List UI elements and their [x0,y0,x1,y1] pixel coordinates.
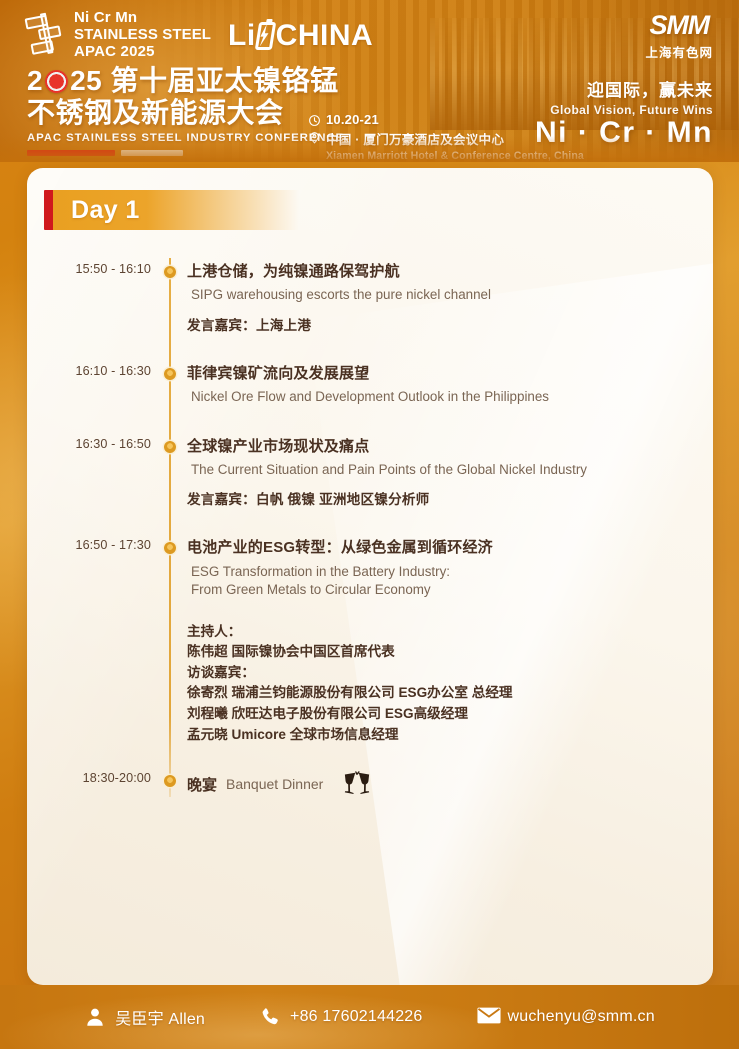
timeline-dot-icon [164,441,176,453]
banquet-label-cn: 晚宴 [187,774,217,795]
logo-line-3: APAC 2025 [74,44,211,61]
agenda-row: 16:30 - 16:50 全球镍产业市场现状及痛点 The Current S… [27,437,713,509]
agenda-card: Day 1 15:50 - 16:10 上港仓储，为纯镍通路保驾护航 SIPG … [27,168,713,985]
person-icon [84,1006,106,1028]
contact-phone[interactable]: +86 17602144226 [259,1006,422,1028]
agenda-row: 15:50 - 16:10 上港仓储，为纯镍通路保驾护航 SIPG wareho… [27,262,713,334]
agenda-row: 16:50 - 17:30 电池产业的ESG转型：从绿色金属到循环经济 ESG … [27,538,713,745]
lichina-logo: Li CHINA [228,19,373,53]
envelope-icon [477,1006,499,1028]
contact-phone-text: +86 17602144226 [290,1008,422,1026]
lichina-suffix: CHINA [276,19,374,53]
slogan-english: Global Vision, Future Wins [550,103,713,117]
footer-contact-bar: 吴臣宇 Allen +86 17602144226 wuchenyu@smm.c… [0,985,739,1049]
session-time: 16:10 - 16:30 [27,364,160,407]
smm-logo: SMM 上海有色网 [645,12,713,61]
contact-email-text: wuchenyu@smm.cn [508,1008,655,1026]
smm-subtitle: 上海有色网 [645,42,713,61]
timeline-dot-icon [164,266,176,278]
logo-line-2: STAINLESS STEEL [74,27,211,44]
battery-icon [254,22,275,50]
panel-guest: 徐寄烈 瑞浦兰钧能源股份有限公司 ESG办公室 总经理 [187,683,513,704]
session-speaker: 发言嘉宾：白帆 俄镍 亚洲地区镍分析师 [187,488,587,508]
session-speaker: 发言嘉宾：上海上港 [187,314,491,334]
conference-title-line-2: 不锈钢及新能源大会 [27,98,344,127]
lichina-prefix: Li [228,19,256,53]
session-title-cn: 菲律宾镍矿流向及发展展望 [187,364,549,384]
phone-icon [259,1006,281,1028]
header-banner: Ni Cr Mn STAINLESS STEEL APAC 2025 Li CH… [0,0,739,162]
agenda-row: 16:10 - 16:30 菲律宾镍矿流向及发展展望 Nickel Ore Fl… [27,364,713,407]
smm-wordmark: SMM [645,12,713,39]
session-title-en: SIPG warehousing escorts the pure nickel… [187,286,491,305]
session-title-cn: 上港仓储，为纯镍通路保驾护航 [187,262,491,282]
session-time: 15:50 - 16:10 [27,262,160,334]
event-date: 10.20-21 [326,112,379,127]
stacked-bars-logo-icon [23,10,69,60]
session-title-cn: 全球镍产业市场现状及痛点 [187,437,587,457]
banquet-time: 18:30-20:00 [27,771,160,797]
session-title-en-line-2: From Green Metals to Circular Economy [187,581,513,600]
session-title-en: Nickel Ore Flow and Development Outlook … [187,388,549,407]
session-time: 16:30 - 16:50 [27,437,160,509]
logo-line-1: Ni Cr Mn [74,10,211,27]
slogan-chinese: 迎国际，赢未来 [550,76,713,101]
conference-title-line-1: 2 25 第十届亚太镍铬锰 [27,66,344,95]
agenda-row-banquet: 18:30-20:00 晚宴 Banquet Dinner [27,771,713,797]
contact-email[interactable]: wuchenyu@smm.cn [477,1006,655,1028]
banquet-label-en: Banquet Dinner [226,776,323,792]
session-title-en: The Current Situation and Pain Points of… [187,461,587,480]
title-line-1-rest: 25 第十届亚太镍铬锰 [70,66,338,95]
host-label: 主持人： [187,622,513,643]
contact-person: 吴臣宇 Allen [84,1005,205,1029]
title-year-prefix: 2 [27,66,43,95]
host-name: 陈伟超 国际镍协会中国区首席代表 [187,642,513,663]
day-accent-bar [44,190,53,230]
panel-guest: 刘程曦 欣旺达电子股份有限公司 ESG高级经理 [187,704,513,725]
day-banner: Day 1 [44,190,299,230]
decorative-zero-icon [45,70,68,93]
session-title-en-line-1: ESG Transformation in the Battery Indust… [187,563,513,582]
header-bottom-fade [0,136,739,162]
session-title-cn: 电池产业的ESG转型：从绿色金属到循环经济 [187,538,513,558]
agenda-timeline: 15:50 - 16:10 上港仓储，为纯镍通路保驾护航 SIPG wareho… [27,244,713,797]
timeline-dot-icon [164,368,176,380]
session-time: 16:50 - 17:30 [27,538,160,745]
clock-icon [308,114,321,127]
contact-person-text: 吴臣宇 Allen [115,1005,205,1029]
event-slogan: 迎国际，赢未来 Global Vision, Future Wins [550,76,713,117]
panel-people: 主持人： 陈伟超 国际镍协会中国区首席代表 访谈嘉宾： 徐寄烈 瑞浦兰钧能源股份… [187,622,513,746]
event-logo: Ni Cr Mn STAINLESS STEEL APAC 2025 [27,10,211,60]
clinking-glasses-icon [342,771,372,797]
day-label: Day 1 [71,196,140,225]
panel-guest: 孟元晓 Umicore 全球市场信息经理 [187,725,513,746]
guests-label: 访谈嘉宾： [187,663,513,684]
